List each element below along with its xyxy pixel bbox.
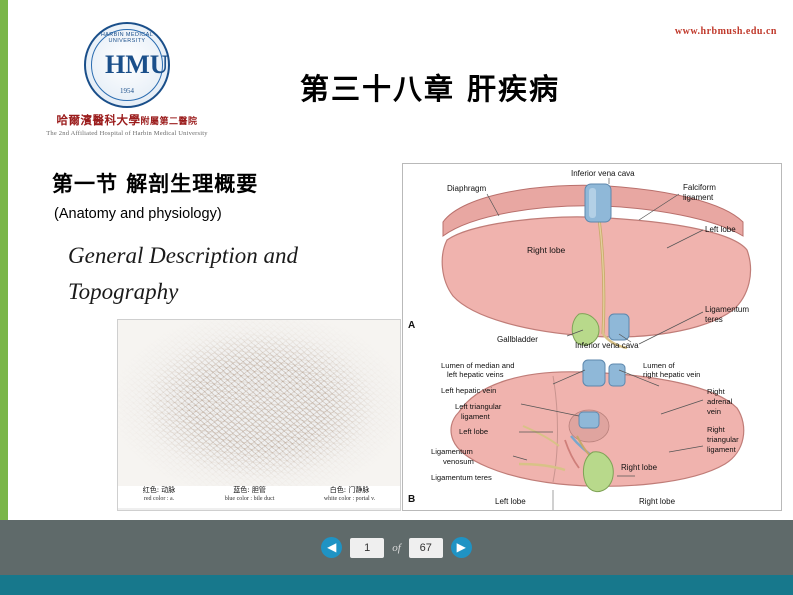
- caption-cn: 红色: 动脉: [143, 486, 176, 495]
- label-right-triangular-2: triangular: [707, 435, 739, 444]
- caption-item: 白色: 门静脉 white color : portal v.: [324, 486, 375, 504]
- liver-anatomy-illustration: Diaphragm Inferior vena cava Falciform l…: [403, 164, 781, 510]
- website-url: www.hrbmush.edu.cn: [675, 26, 777, 37]
- caption-en: blue color : bile duct: [225, 495, 275, 504]
- label-left-triangular-1: Left triangular: [455, 402, 502, 411]
- label-left-lobe-b: Left lobe: [459, 427, 488, 436]
- caption-item: 蓝色: 胆管 blue color : bile duct: [225, 486, 275, 504]
- label-right-lobe-b: Right lobe: [621, 463, 658, 472]
- caption-cn: 蓝色: 胆管: [225, 486, 275, 495]
- page-separator-label: of: [392, 542, 401, 554]
- crest-monogram: HMU: [105, 42, 149, 88]
- topic-text: General Description and Topography: [68, 238, 378, 310]
- topic-line-2: Topography: [68, 274, 378, 310]
- label-right-triangular-3: ligament: [707, 445, 737, 454]
- label-lumen-median-1: Lumen of median and: [441, 361, 514, 370]
- label-ligamentum-venosum-2: venosum: [443, 457, 474, 466]
- label-ligamentum-teres-b: Ligamentum teres: [431, 473, 492, 482]
- liver-cast-figure: 红色: 动脉 red color : a. 蓝色: 胆管 blue color …: [117, 319, 401, 511]
- logo-name-cn-sub: 附屬第二醫院: [140, 116, 197, 126]
- caption-en: white color : portal v.: [324, 495, 375, 504]
- slide-root: www.hrbmush.edu.cn HARBIN MEDICAL UNIVER…: [0, 0, 793, 595]
- label-lumen-right-1: Lumen of: [643, 361, 676, 370]
- current-page-input[interactable]: 1: [350, 538, 384, 558]
- label-lumen-right-2: right hepatic vein: [643, 370, 700, 379]
- panel-a-label: A: [408, 320, 415, 331]
- crest-icon: HARBIN MEDICAL UNIVERSITY HMU 1954: [84, 22, 170, 108]
- topic-line-1: General Description and: [68, 238, 378, 274]
- footer-label-left-lobe: Left lobe: [495, 497, 526, 506]
- total-pages-label: 67: [409, 538, 443, 558]
- section-heading: 第一节 解剖生理概要: [52, 168, 258, 198]
- left-accent-bar: [0, 0, 8, 520]
- panel-b-label: B: [408, 494, 415, 505]
- university-logo: HARBIN MEDICAL UNIVERSITY HMU 1954 哈爾濱醫科…: [42, 22, 212, 152]
- label-left-hepatic-vein: Left hepatic vein: [441, 386, 496, 395]
- footer-label-right-lobe: Right lobe: [639, 497, 676, 506]
- label-right-triangular-1: Right: [707, 425, 726, 434]
- label-left-triangular-2: ligament: [461, 412, 491, 421]
- liver-cast-vignette: [118, 320, 400, 490]
- crest-year: 1954: [86, 87, 168, 95]
- page-title: 第三十八章 肝疾病: [215, 66, 645, 108]
- liver-anatomy-figure: Diaphragm Inferior vena cava Falciform l…: [402, 163, 782, 511]
- liver-cast-caption: 红色: 动脉 red color : a. 蓝色: 胆管 blue color …: [118, 486, 400, 508]
- section-subtitle: (Anatomy and physiology): [54, 206, 222, 222]
- label-right-adrenal-3: vein: [707, 407, 721, 416]
- label-right-adrenal-2: adrenal: [707, 397, 733, 406]
- label-right-adrenal-1: Right: [707, 387, 726, 396]
- label-left-lobe-a: Left lobe: [705, 225, 736, 234]
- logo-name-cn: 哈爾濱醫科大學附屬第二醫院: [42, 112, 212, 128]
- caption-en: red color : a.: [143, 495, 176, 504]
- label-ligamentum-teres-a2: teres: [705, 315, 723, 324]
- label-falciform-1: Falciform: [683, 183, 716, 192]
- label-right-lobe-a: Right lobe: [527, 245, 566, 255]
- label-falciform-2: ligament: [683, 193, 714, 202]
- label-inferior-vena-cava-a: Inferior vena cava: [571, 169, 635, 178]
- footer-accent-strip: [0, 575, 793, 595]
- caption-item: 红色: 动脉 red color : a.: [143, 486, 176, 504]
- label-inferior-vena-cava-a2: Inferior vena cava: [575, 341, 639, 350]
- page-navigation: ◀ 1 of 67 ▶: [0, 520, 793, 575]
- label-ligamentum-venosum-1: Ligamentum: [431, 447, 473, 456]
- label-diaphragm: Diaphragm: [447, 184, 486, 193]
- logo-name-cn-main: 哈爾濱醫科大學: [56, 115, 140, 127]
- chevron-right-icon[interactable]: ▶: [451, 537, 472, 558]
- label-ligamentum-teres-a1: Ligamentum: [705, 305, 749, 314]
- chevron-left-icon[interactable]: ◀: [321, 537, 342, 558]
- label-gallbladder: Gallbladder: [497, 335, 538, 344]
- logo-name-en: The 2nd Affiliated Hospital of Harbin Me…: [42, 130, 212, 137]
- label-lumen-median-2: left hepatic veins: [447, 370, 504, 379]
- caption-cn: 白色: 门静脉: [324, 486, 375, 495]
